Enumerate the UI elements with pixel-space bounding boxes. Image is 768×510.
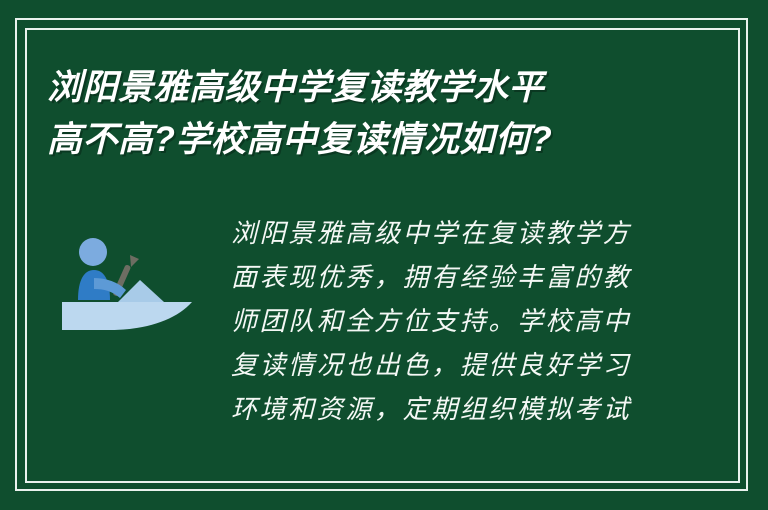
body-line-1: 浏阳景雅高级中学在复读教学方 (231, 212, 649, 256)
rower-head-shape (79, 238, 107, 266)
page-title: 浏阳景雅高级中学复读教学水平 高不高?学校高中复读情况如何? (47, 62, 707, 166)
body-line-2: 面表现优秀，拥有经验丰富的教 (231, 256, 649, 300)
body-paragraph: 浏阳景雅高级中学在复读教学方 面表现优秀，拥有经验丰富的教 师团队和全方位支持。… (231, 212, 649, 432)
body-line-5: 环境和资源，定期组织模拟考试 (231, 388, 649, 432)
boat-hull-shape (62, 302, 192, 330)
page-title-line-1: 浏阳景雅高级中学复读教学水平 (47, 62, 707, 114)
poster-canvas: 浏阳景雅高级中学复读教学水平 高不高?学校高中复读情况如何? 浏阳景雅高级中学在… (0, 0, 768, 510)
body-line-4: 复读情况也出色，提供良好学习 (231, 344, 649, 388)
rowing-boat-illustration (60, 228, 200, 338)
page-title-line-2: 高不高?学校高中复读情况如何? (47, 114, 707, 166)
frame-left-mask (0, 0, 15, 510)
body-line-3: 师团队和全方位支持。学校高中 (231, 300, 649, 344)
rowing-boat-icon (60, 228, 200, 338)
